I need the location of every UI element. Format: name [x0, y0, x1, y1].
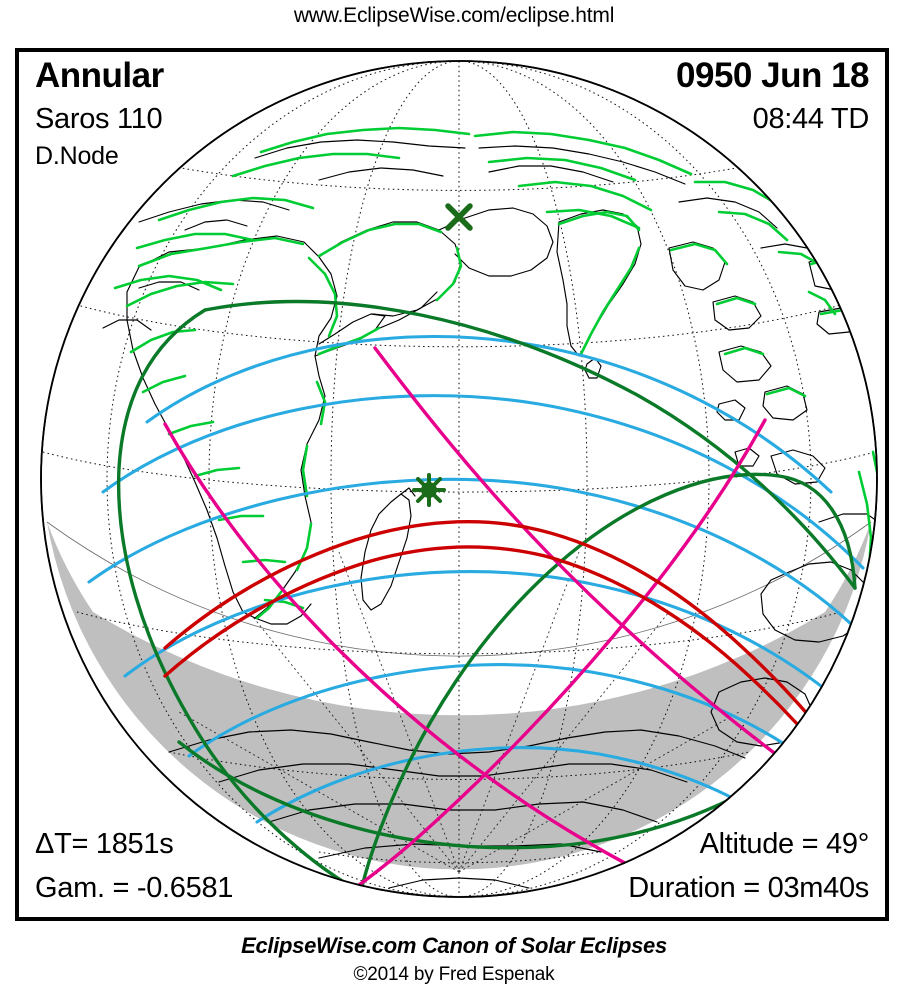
orthographic-globe-map — [19, 52, 885, 917]
greatest-eclipse-marker — [414, 475, 444, 505]
eclipse-date-label: 0950 Jun 18 — [676, 56, 869, 96]
altitude-value: Altitude = 49° — [700, 828, 869, 861]
eclipse-type-label: Annular — [35, 56, 164, 96]
node-label: D.Node — [35, 142, 119, 171]
saros-series-label: Saros 110 — [35, 103, 162, 136]
duration-value: Duration = 03m40s — [628, 872, 869, 905]
globe-stage — [19, 52, 885, 917]
author-credit: ©2014 by Fred Espenak — [0, 964, 908, 986]
delta-t-value: ΔT= 1851s — [35, 828, 173, 861]
gamma-value: Gam. = -0.6581 — [35, 872, 233, 905]
canon-title: EclipseWise.com Canon of Solar Eclipses — [0, 933, 908, 959]
site-url-caption: www.EclipseWise.com/eclipse.html — [0, 4, 908, 28]
eclipse-time-label: 08:44 TD — [753, 103, 869, 136]
eclipse-map-frame: Annular Saros 110 D.Node 0950 Jun 18 08:… — [15, 48, 889, 921]
